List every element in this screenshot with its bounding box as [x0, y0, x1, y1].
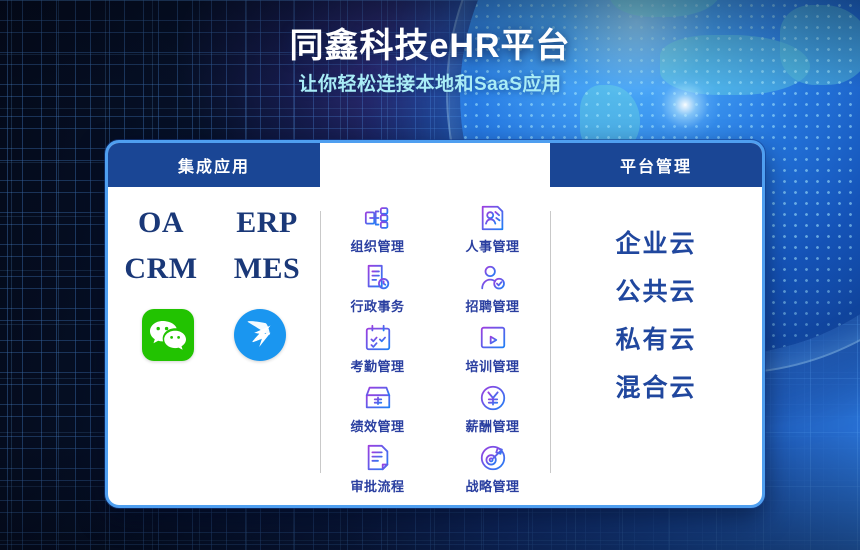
module-approval-process[interactable]: 审批流程 [328, 441, 428, 495]
approval-doc-icon [361, 441, 395, 475]
hr-modules-column: 组织管理 人事管理 [320, 187, 550, 505]
module-icon-grid: 组织管理 人事管理 [320, 193, 550, 495]
system-mes[interactable]: MES [214, 249, 320, 289]
module-label: 战略管理 [465, 478, 519, 495]
divider-right [550, 211, 551, 473]
document-clock-icon [361, 261, 395, 295]
target-compass-icon [476, 441, 510, 475]
tab-integrated-apps[interactable]: 集成应用 [108, 143, 320, 187]
module-label: 考勤管理 [350, 358, 404, 375]
personnel-card-icon [476, 201, 510, 235]
cloud-type-list: 企业云 公共云 私有云 混合云 [550, 229, 762, 403]
cloud-public[interactable]: 公共云 [615, 277, 696, 307]
system-erp[interactable]: ERP [214, 203, 320, 243]
system-oa[interactable]: OA [108, 203, 214, 243]
system-crm[interactable]: CRM [108, 249, 214, 289]
main-panel: 集成应用 平台管理 OA ERP CRM MES [105, 140, 765, 508]
tab-platform-management[interactable]: 平台管理 [550, 143, 762, 187]
tab-bar: 集成应用 平台管理 [108, 143, 762, 187]
module-label: 组织管理 [350, 238, 404, 255]
org-chart-icon [361, 201, 395, 235]
cloud-enterprise[interactable]: 企业云 [615, 229, 696, 259]
module-label: 行政事务 [350, 298, 404, 315]
calendar-check-icon [361, 321, 395, 355]
module-compensation-management[interactable]: 薪酬管理 [443, 381, 543, 435]
module-label: 审批流程 [350, 478, 404, 495]
yuan-circle-icon [476, 381, 510, 415]
module-personnel-management[interactable]: 人事管理 [443, 201, 543, 255]
module-label: 薪酬管理 [465, 418, 519, 435]
cloud-private[interactable]: 私有云 [615, 325, 696, 355]
performance-box-icon [361, 381, 395, 415]
page-header: 同鑫科技eHR平台 让你轻松连接本地和SaaS应用 [0, 26, 860, 98]
page-title: 同鑫科技eHR平台 [0, 26, 860, 66]
user-check-icon [476, 261, 510, 295]
platform-management-column: 企业云 公共云 私有云 混合云 [550, 187, 762, 505]
integrated-apps-column: OA ERP CRM MES [108, 187, 320, 505]
tab-platform-management-label: 平台管理 [620, 153, 692, 177]
module-administrative-affairs[interactable]: 行政事务 [328, 261, 428, 315]
module-attendance-management[interactable]: 考勤管理 [328, 321, 428, 375]
module-strategy-management[interactable]: 战略管理 [443, 441, 543, 495]
cloud-hybrid[interactable]: 混合云 [615, 373, 696, 403]
tab-integrated-apps-label: 集成应用 [178, 153, 250, 177]
wechat-icon [142, 309, 194, 361]
module-recruitment-management[interactable]: 招聘管理 [443, 261, 543, 315]
system-name-grid: OA ERP CRM MES [108, 203, 320, 289]
module-training-management[interactable]: 培训管理 [443, 321, 543, 375]
module-performance-management[interactable]: 绩效管理 [328, 381, 428, 435]
wechat-logo[interactable] [142, 309, 194, 361]
divider-left [320, 211, 321, 473]
module-label: 培训管理 [465, 358, 519, 375]
tab-spacer [320, 143, 550, 187]
module-org-management[interactable]: 组织管理 [328, 201, 428, 255]
module-label: 绩效管理 [350, 418, 404, 435]
messaging-logos [108, 309, 320, 361]
screenshot-root: 同鑫科技eHR平台 让你轻松连接本地和SaaS应用 集成应用 平台管理 OA E… [0, 0, 860, 550]
dingtalk-logo[interactable] [234, 309, 286, 361]
page-subtitle: 让你轻松连接本地和SaaS应用 [0, 72, 860, 98]
play-window-icon [476, 321, 510, 355]
dingtalk-icon [234, 309, 286, 361]
panel-body: OA ERP CRM MES [108, 187, 762, 505]
module-label: 人事管理 [465, 238, 519, 255]
module-label: 招聘管理 [465, 298, 519, 315]
